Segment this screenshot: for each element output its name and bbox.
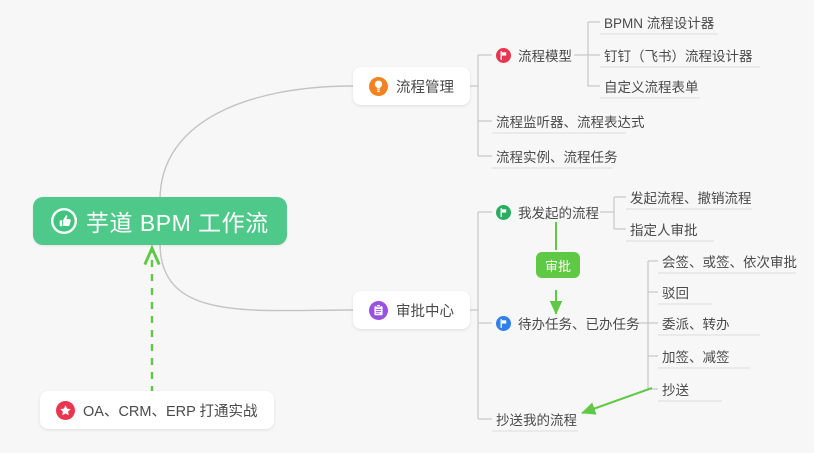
node-label: 流程模型 bbox=[518, 45, 572, 65]
annotation-tag-approval: 审批 bbox=[536, 252, 580, 278]
leaf-custom-form[interactable]: 自定义流程表单 bbox=[600, 74, 703, 98]
leaf-label: 指定人审批 bbox=[630, 219, 698, 239]
leaf-reject[interactable]: 驳回 bbox=[658, 280, 693, 304]
node-my-initiated[interactable]: 我发起的流程 bbox=[492, 200, 603, 224]
flag-icon bbox=[496, 316, 511, 331]
leaf-dingtalk-designer[interactable]: 钉钉（飞书）流程设计器 bbox=[600, 43, 757, 67]
edge-root-to-process-management bbox=[160, 86, 353, 200]
clipboard-icon bbox=[369, 301, 388, 320]
node-label: 待办任务、已办任务 bbox=[518, 313, 640, 333]
leaf-label: 驳回 bbox=[662, 282, 689, 302]
leaf-label: 委派、转办 bbox=[662, 313, 730, 333]
leaf-label: 发起流程、撤销流程 bbox=[630, 187, 752, 207]
star-icon bbox=[56, 401, 75, 420]
leaf-label: 会签、或签、依次审批 bbox=[662, 251, 797, 271]
root-node[interactable]: 芋道 BPM 工作流 bbox=[33, 197, 287, 245]
branch-approval-center[interactable]: 审批中心 bbox=[353, 291, 470, 329]
leaf-label: 自定义流程表单 bbox=[604, 76, 699, 96]
branch-process-management[interactable]: 流程管理 bbox=[353, 67, 470, 105]
flag-icon bbox=[496, 205, 511, 220]
leaf-start-cancel-process[interactable]: 发起流程、撤销流程 bbox=[626, 185, 756, 209]
leaf-cc-to-me[interactable]: 抄送我的流程 bbox=[492, 407, 581, 431]
leaf-countersign[interactable]: 会签、或签、依次审批 bbox=[658, 249, 801, 273]
thumbs-up-icon bbox=[51, 208, 77, 234]
node-process-model[interactable]: 流程模型 bbox=[492, 43, 576, 67]
leaf-label: 流程监听器、流程表达式 bbox=[496, 111, 645, 131]
leaf-assignee-approval[interactable]: 指定人审批 bbox=[626, 217, 702, 241]
branch-label: 流程管理 bbox=[396, 76, 454, 97]
arrow-cc-to-cc-mine bbox=[582, 388, 652, 413]
mindmap-canvas: 芋道 BPM 工作流 流程管理 流程模型 BPMN 流程设计器 钉钉（飞书 bbox=[0, 0, 814, 453]
leaf-cc[interactable]: 抄送 bbox=[658, 377, 693, 401]
leaf-label: 抄送 bbox=[662, 379, 689, 399]
leaf-add-remove-sign[interactable]: 加签、减签 bbox=[658, 344, 734, 368]
edge-root-to-approval-center bbox=[160, 243, 353, 311]
note-label: OA、CRM、ERP 打通实战 bbox=[83, 400, 258, 421]
root-label: 芋道 BPM 工作流 bbox=[86, 204, 269, 238]
leaf-label: 钉钉（飞书）流程设计器 bbox=[604, 45, 753, 65]
flag-icon bbox=[496, 48, 511, 63]
branch-label: 审批中心 bbox=[396, 300, 454, 321]
note-card[interactable]: OA、CRM、ERP 打通实战 bbox=[40, 391, 274, 429]
leaf-label: 加签、减签 bbox=[662, 346, 730, 366]
leaf-process-instance[interactable]: 流程实例、流程任务 bbox=[492, 144, 622, 168]
node-label: 我发起的流程 bbox=[518, 202, 599, 222]
leaf-bpmn-designer[interactable]: BPMN 流程设计器 bbox=[600, 10, 718, 34]
leaf-label: 流程实例、流程任务 bbox=[496, 146, 618, 166]
leaf-process-listener[interactable]: 流程监听器、流程表达式 bbox=[492, 109, 649, 133]
tag-label: 审批 bbox=[545, 256, 571, 275]
leaf-label: BPMN 流程设计器 bbox=[604, 12, 714, 32]
node-todo-done-tasks[interactable]: 待办任务、已办任务 bbox=[492, 311, 644, 335]
lightbulb-icon bbox=[369, 77, 388, 96]
leaf-delegate-transfer[interactable]: 委派、转办 bbox=[658, 311, 734, 335]
leaf-label: 抄送我的流程 bbox=[496, 409, 577, 429]
